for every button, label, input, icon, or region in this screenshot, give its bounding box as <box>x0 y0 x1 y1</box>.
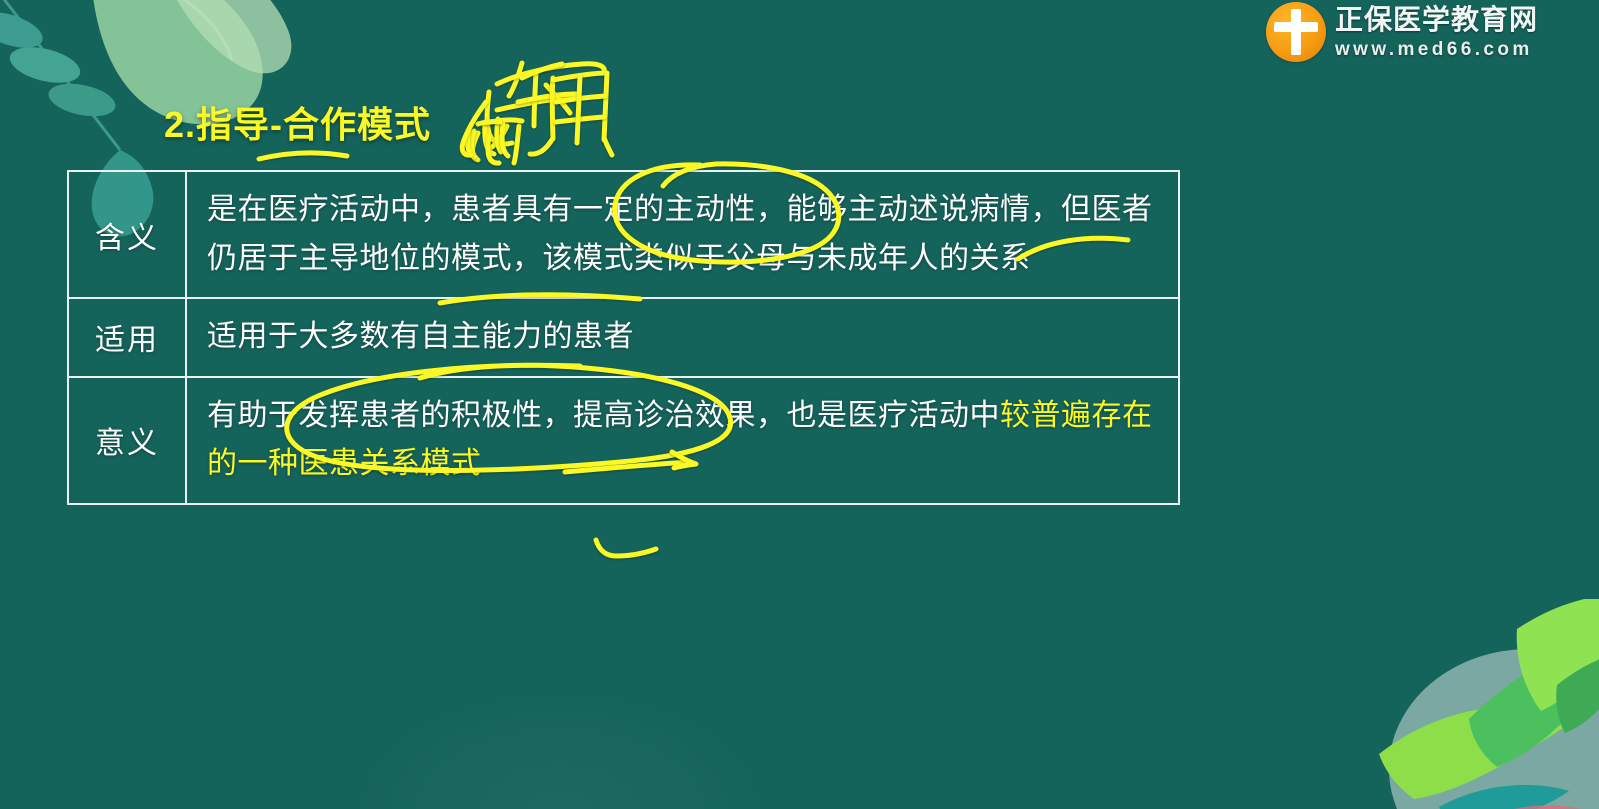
logo-title: 正保医学教育网 <box>1335 6 1538 34</box>
row-content-significance: 有助于发挥患者的积极性，提高诊治效果，也是医疗活动中较普遍存在的一种医患关系模式 <box>186 377 1179 504</box>
line-text: 的关系 <box>939 242 1031 275</box>
row-label-applicability: 适用 <box>68 298 186 377</box>
logo-text-block: 正保医学教育网 www.med66.com <box>1335 6 1538 59</box>
row-label-significance: 意义 <box>68 377 186 504</box>
row-content-applicability: 适用于大多数有自主能力的患者 <box>186 298 1179 377</box>
line-text: 适用于大多数有自主能力的患者 <box>207 320 634 353</box>
handwritten-changyong-mark <box>462 63 612 163</box>
line-text-highlight: 较 <box>1000 399 1031 432</box>
title-underline-mark <box>259 153 347 159</box>
page-title: 2.指导-合作模式 <box>164 96 431 148</box>
floor-glow <box>350 689 770 809</box>
slide-canvas: 正保医学教育网 www.med66.com 2.指导-合作模式 含义 是在医疗活… <box>0 0 1599 809</box>
row-content-meaning: 是在医疗活动中，患者具有一定的主动性，能够主动述说病情，但医者仍居于主导地位的模… <box>186 171 1179 298</box>
line-text: 有助于发挥患者的积极性，提高诊治效果，也是医疗活动中 <box>207 399 1000 432</box>
content-table: 含义 是在医疗活动中，患者具有一定的主动性，能够主动述说病情，但医者仍居于主导地… <box>67 170 1180 505</box>
row-label-meaning: 含义 <box>68 171 186 298</box>
site-logo: 正保医学教育网 www.med66.com <box>1266 2 1538 62</box>
cross-logo-icon <box>1266 2 1326 62</box>
table-row: 含义 是在医疗活动中，患者具有一定的主动性，能够主动述说病情，但医者仍居于主导地… <box>68 171 1179 298</box>
table-row: 适用 适用于大多数有自主能力的患者 <box>68 298 1179 377</box>
green-leaves-decoration <box>1319 599 1599 809</box>
check-mark-under-jiao <box>596 540 656 556</box>
line-text: 是在医疗活动中，患者具有一定的主动性，能够主动述说病情， <box>207 193 1061 226</box>
table-row: 意义 有助于发挥患者的积极性，提高诊治效果，也是医疗活动中较普遍存在的一种医患关… <box>68 377 1179 504</box>
logo-url: www.med66.com <box>1335 40 1538 59</box>
